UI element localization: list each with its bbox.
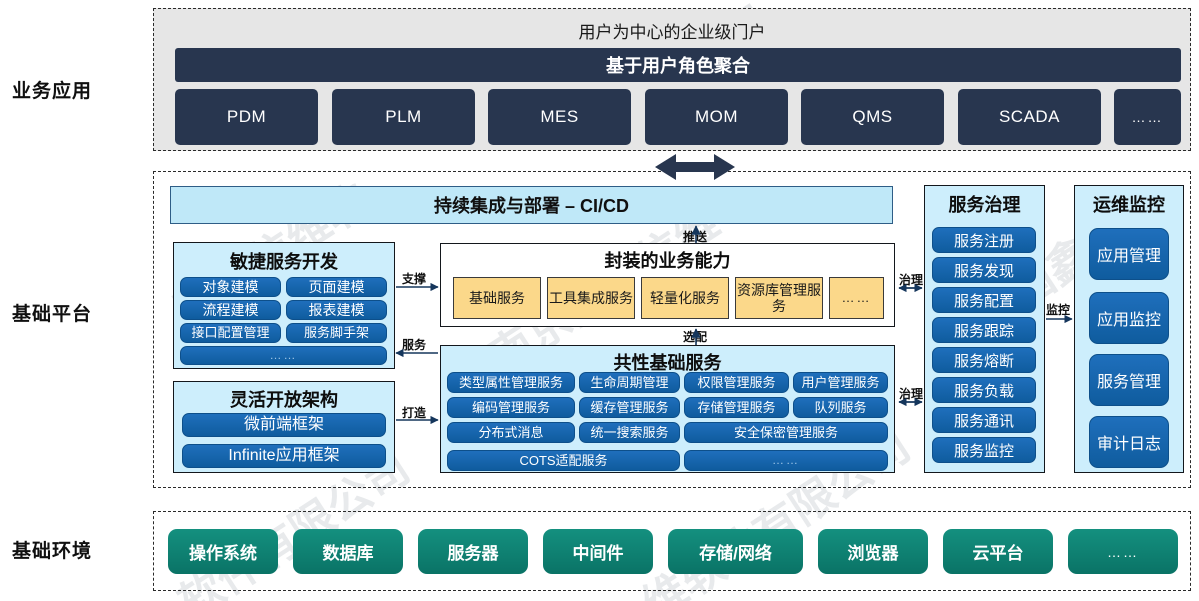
agile-item-object-modeling[interactable]: 对象建模 — [180, 277, 281, 297]
app-box-mom[interactable]: MOM — [645, 89, 788, 145]
common-service-coding-mgmt[interactable]: 编码管理服务 — [447, 397, 575, 418]
common-service-distributed-message[interactable]: 分布式消息 — [447, 422, 575, 443]
governance-service-monitoring[interactable]: 服务监控 — [932, 437, 1036, 463]
common-service-cache-mgmt[interactable]: 缓存管理服务 — [579, 397, 680, 418]
service-governance-title: 服务治理 — [925, 191, 1044, 217]
ops-item-audit-log[interactable]: 审计日志 — [1089, 416, 1169, 468]
agile-item-interface-config-mgmt[interactable]: 接口配置管理 — [180, 323, 281, 343]
tier-label-business: 业务应用 — [12, 76, 92, 103]
ops-item-application-monitoring[interactable]: 应用监控 — [1089, 292, 1169, 344]
app-box-plm[interactable]: PLM — [332, 89, 475, 145]
app-box-mes[interactable]: MES — [488, 89, 631, 145]
capability-more[interactable]: …… — [829, 277, 884, 319]
flexible-item-infinite-framework[interactable]: Infinite应用框架 — [182, 444, 386, 468]
connector-label-push: 推送 — [683, 228, 707, 245]
agile-item-page-modeling[interactable]: 页面建模 — [286, 277, 387, 297]
ops-item-application-management[interactable]: 应用管理 — [1089, 228, 1169, 280]
governance-service-discovery[interactable]: 服务发现 — [932, 257, 1036, 283]
agile-item-process-modeling[interactable]: 流程建模 — [180, 300, 281, 320]
agile-service-development-title: 敏捷服务开发 — [174, 248, 394, 274]
env-middleware[interactable]: 中间件 — [543, 529, 653, 574]
connector-label-optional: 选配 — [683, 328, 707, 345]
common-service-storage-mgmt[interactable]: 存储管理服务 — [684, 397, 789, 418]
common-service-user-mgmt[interactable]: 用户管理服务 — [793, 372, 888, 393]
connector-label-build: 打造 — [402, 404, 426, 421]
app-box-scada[interactable]: SCADA — [958, 89, 1101, 145]
agile-item-report-modeling[interactable]: 报表建模 — [286, 300, 387, 320]
connector-label-support: 支撑 — [402, 270, 426, 287]
governance-service-circuit-breaker[interactable]: 服务熔断 — [932, 347, 1036, 373]
governance-service-communication[interactable]: 服务通讯 — [932, 407, 1036, 433]
portal-title: 用户为中心的企业级门户 — [153, 18, 1191, 43]
flexible-architecture-title: 灵活开放架构 — [174, 386, 394, 412]
common-service-lifecycle-mgmt[interactable]: 生命周期管理 — [579, 372, 680, 393]
env-server[interactable]: 服务器 — [418, 529, 528, 574]
cicd-bar: 持续集成与部署 – CI/CD — [170, 186, 893, 224]
encapsulated-capability-title: 封装的业务能力 — [441, 247, 894, 273]
capability-basic-service[interactable]: 基础服务 — [453, 277, 541, 319]
tier-label-platform: 基础平台 — [12, 299, 92, 326]
common-service-queue[interactable]: 队列服务 — [793, 397, 888, 418]
capability-lightweight-service[interactable]: 轻量化服务 — [641, 277, 729, 319]
agile-item-service-scaffold[interactable]: 服务脚手架 — [286, 323, 387, 343]
capability-resource-library-mgmt-service[interactable]: 资源库管理服务 — [735, 277, 823, 319]
architecture-diagram: 公司 有限公司 有 国鑫信维软 南京国鑫信维 南京国鑫信 软件有限公司 维软件有… — [0, 0, 1199, 601]
env-cloud-platform[interactable]: 云平台 — [943, 529, 1053, 574]
env-storage-network[interactable]: 存储/网络 — [668, 529, 803, 574]
common-service-security-confidentiality-mgmt[interactable]: 安全保密管理服务 — [684, 422, 888, 443]
flexible-item-micro-frontend[interactable]: 微前端框架 — [182, 413, 386, 437]
connector-label-governance-bottom: 治理 — [899, 385, 923, 402]
governance-service-load-balancing[interactable]: 服务负载 — [932, 377, 1036, 403]
env-browser[interactable]: 浏览器 — [818, 529, 928, 574]
connector-label-governance-top: 治理 — [899, 271, 923, 288]
governance-service-tracing[interactable]: 服务跟踪 — [932, 317, 1036, 343]
connector-label-service: 服务 — [402, 336, 426, 353]
common-service-more[interactable]: …… — [684, 450, 888, 471]
agile-item-more[interactable]: …… — [180, 346, 387, 365]
connector-label-monitor: 监控 — [1046, 301, 1070, 318]
capability-tool-integration-service[interactable]: 工具集成服务 — [547, 277, 635, 319]
role-aggregation-bar: 基于用户角色聚合 — [175, 48, 1181, 82]
common-service-type-attribute-mgmt[interactable]: 类型属性管理服务 — [447, 372, 575, 393]
ops-item-service-management[interactable]: 服务管理 — [1089, 354, 1169, 406]
app-box-qms[interactable]: QMS — [801, 89, 944, 145]
common-service-unified-search[interactable]: 统一搜索服务 — [579, 422, 680, 443]
app-box-more[interactable]: …… — [1114, 89, 1181, 145]
governance-service-configuration[interactable]: 服务配置 — [932, 287, 1036, 313]
tier-label-infrastructure: 基础环境 — [12, 536, 92, 563]
common-service-cots-adaptation[interactable]: COTS适配服务 — [447, 450, 680, 471]
ops-monitoring-title: 运维监控 — [1075, 191, 1183, 217]
env-more[interactable]: …… — [1068, 529, 1178, 574]
governance-service-registration[interactable]: 服务注册 — [932, 227, 1036, 253]
env-operating-system[interactable]: 操作系统 — [168, 529, 278, 574]
app-box-pdm[interactable]: PDM — [175, 89, 318, 145]
common-service-permission-mgmt[interactable]: 权限管理服务 — [684, 372, 789, 393]
env-database[interactable]: 数据库 — [293, 529, 403, 574]
